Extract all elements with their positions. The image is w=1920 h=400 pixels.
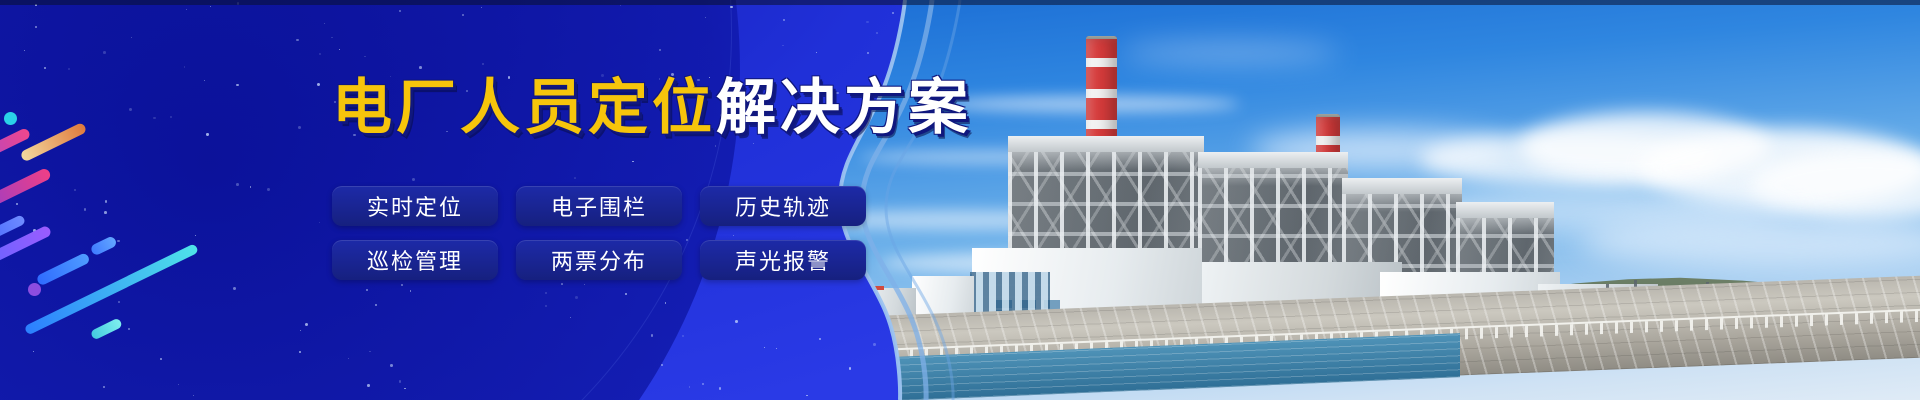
feature-tag-realtime-location[interactable]: 实时定位 xyxy=(332,186,498,226)
feature-tag-audible-visual-alarm[interactable]: 声光报警 xyxy=(700,240,866,280)
feature-tag-row: 实时定位 电子围栏 历史轨迹 xyxy=(332,186,952,226)
feature-tag-history-track[interactable]: 历史轨迹 xyxy=(700,186,866,226)
page-title: 电厂人员定位解决方案 xyxy=(332,78,972,138)
feature-tag-electronic-fence[interactable]: 电子围栏 xyxy=(516,186,682,226)
feature-tag-two-ticket-distribution[interactable]: 两票分布 xyxy=(516,240,682,280)
solution-banner: 电厂人员定位解决方案 实时定位 电子围栏 历史轨迹 巡检管理 两票分布 声光报警 xyxy=(0,0,1920,400)
feature-tag-row: 巡检管理 两票分布 声光报警 xyxy=(332,240,952,280)
title-plain: 解决方案 xyxy=(716,74,972,141)
title-highlight: 电厂人员定位 xyxy=(332,74,716,141)
top-edge-shadow xyxy=(0,0,1920,5)
feature-tag-list: 实时定位 电子围栏 历史轨迹 巡检管理 两票分布 声光报警 xyxy=(332,186,952,294)
feature-tag-inspection-management[interactable]: 巡检管理 xyxy=(332,240,498,280)
banner-content: 电厂人员定位解决方案 实时定位 电子围栏 历史轨迹 巡检管理 两票分布 声光报警 xyxy=(0,0,1010,400)
